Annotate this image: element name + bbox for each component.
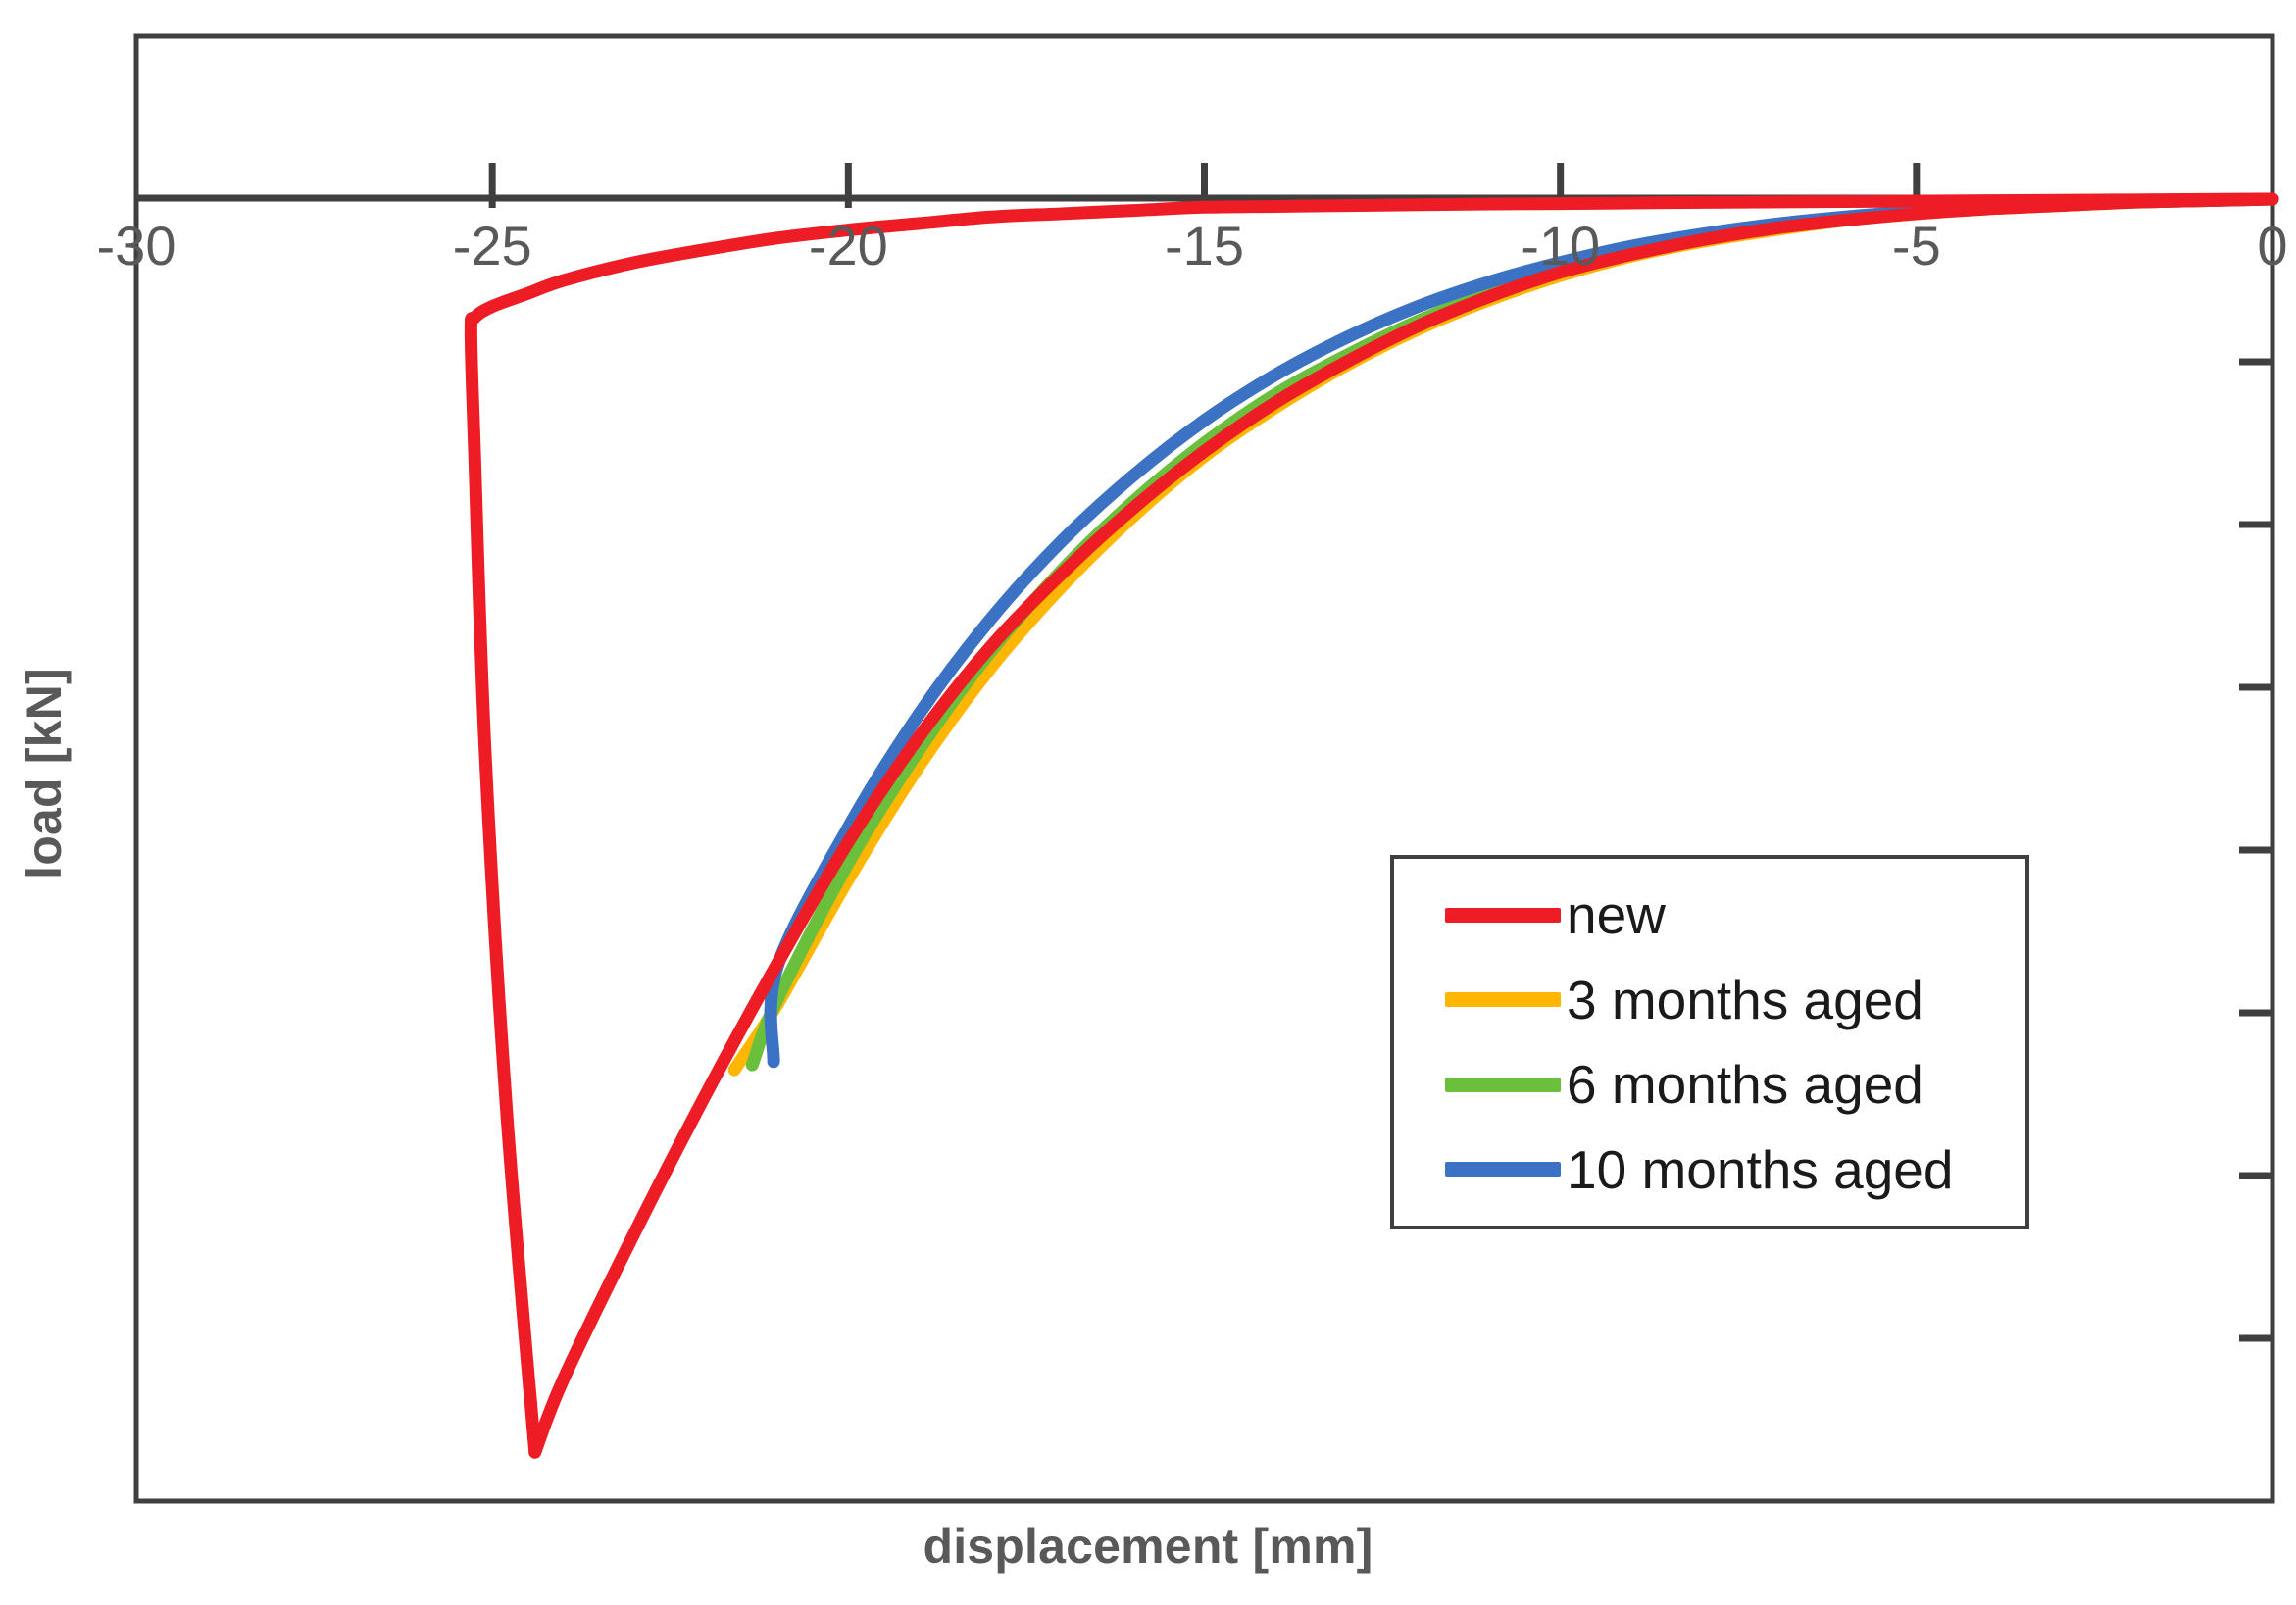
legend-item-label: 10 months aged xyxy=(1567,1138,1953,1201)
x-tick-label: -30 xyxy=(97,214,176,277)
x-tick-label: -5 xyxy=(1892,214,1941,277)
legend-color-swatch xyxy=(1445,908,1561,923)
x-tick-label: -10 xyxy=(1521,214,1600,277)
x-axis-title: displacement [mm] xyxy=(0,1518,2296,1575)
legend-color-swatch xyxy=(1445,992,1561,1007)
legend-item[interactable]: new xyxy=(1394,879,2025,950)
plot-canvas xyxy=(0,0,2296,1605)
legend-color-swatch xyxy=(1445,1162,1561,1177)
legend-item[interactable]: 3 months aged xyxy=(1394,965,2025,1035)
legend-item[interactable]: 10 months aged xyxy=(1394,1134,2025,1205)
legend-item-label: new xyxy=(1567,883,1666,946)
chart-figure: -30-25-20-15-10-50 10-1-2-3-4-5-6-7-8 di… xyxy=(0,0,2296,1605)
chart-legend: new3 months aged6 months aged10 months a… xyxy=(1390,855,2029,1229)
legend-item-label: 6 months aged xyxy=(1567,1053,1923,1116)
x-tick-label: -15 xyxy=(1165,214,1244,277)
legend-color-swatch xyxy=(1445,1078,1561,1092)
x-tick-label: -25 xyxy=(453,214,532,277)
legend-item-label: 3 months aged xyxy=(1567,969,1923,1031)
x-tick-label: -20 xyxy=(809,214,888,277)
legend-item[interactable]: 6 months aged xyxy=(1394,1049,2025,1120)
x-tick-label: 0 xyxy=(2257,214,2287,277)
y-axis-title: load [kN] xyxy=(16,612,73,935)
